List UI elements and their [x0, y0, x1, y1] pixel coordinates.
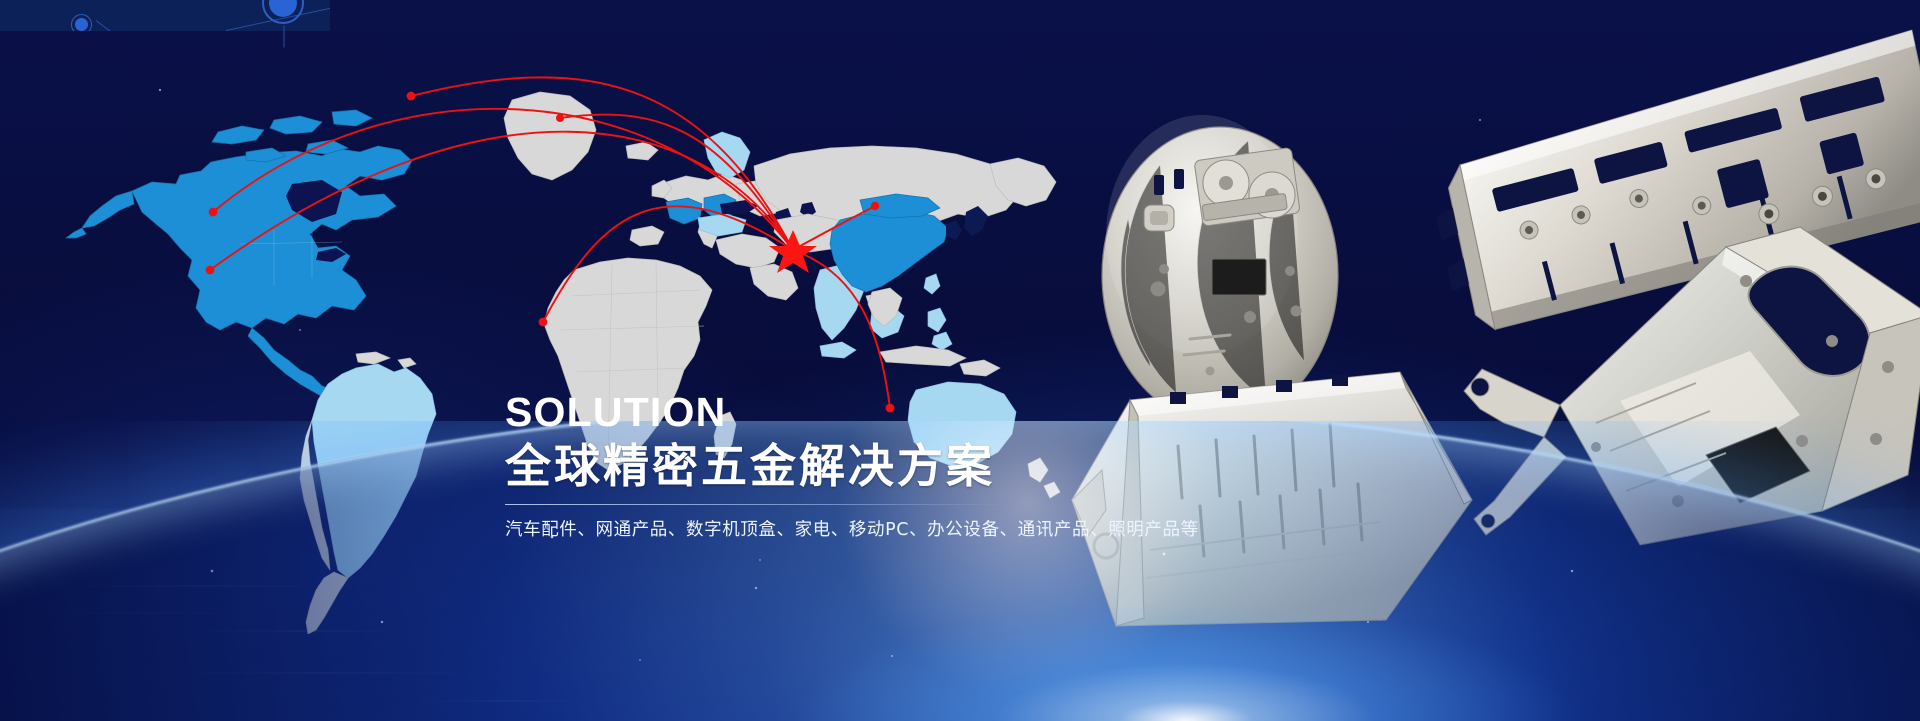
hud-node-core-a — [75, 18, 88, 31]
eyebrow-text: SOLUTION — [505, 392, 1265, 434]
hud-node-core-b — [269, 0, 297, 17]
part-round-disc — [1102, 115, 1338, 423]
headline-block: SOLUTION 全球精密五金解决方案 汽车配件、网通产品、数字机顶盒、家电、移… — [505, 392, 1265, 543]
hud-node-icon-a — [71, 14, 92, 31]
page-title: 全球精密五金解决方案 — [505, 439, 1265, 493]
hud-line-1 — [96, 20, 153, 31]
hud-line-3 — [284, 26, 285, 48]
hero-banner: .g { fill:#d8d8d8; stroke:#bdbdbd; strok… — [0, 0, 1920, 721]
subtitle-text: 汽车配件、网通产品、数字机顶盒、家电、移动PC、办公设备、通讯产品、照明产品等 — [505, 518, 1265, 543]
title-divider — [505, 504, 1010, 505]
